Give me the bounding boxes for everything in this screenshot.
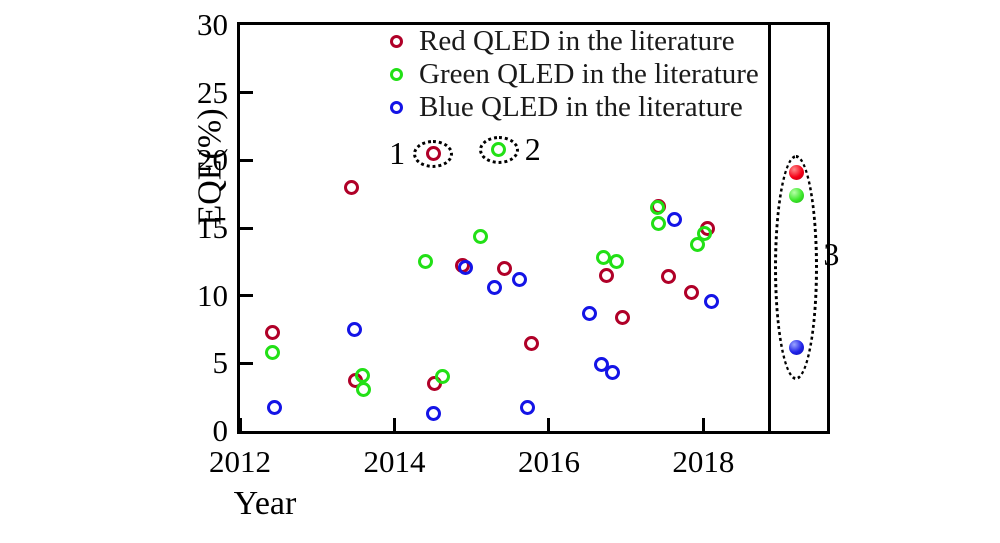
x-tick-label-2018: 2018 [658,446,748,477]
data-point [347,322,362,337]
data-point [605,365,620,380]
x-tick-2018 [702,418,705,431]
data-point [418,254,433,269]
y-tick-15 [240,227,253,230]
legend-item-1[interactable]: Green QLED in the literature [390,58,759,91]
data-point [609,254,624,269]
legend-label: Red QLED in the literature [419,27,735,56]
y-tick-10 [240,294,253,297]
data-point [650,200,665,215]
x-axis-title: Year [0,485,1000,523]
y-tick-label-30: 30 [197,9,228,40]
legend-label: Green QLED in the literature [419,60,759,89]
legend-swatch-icon [390,35,403,48]
data-point [582,306,597,321]
legend-item-0[interactable]: Red QLED in the literature [390,25,759,58]
x-tick-label-2014: 2014 [349,446,439,477]
data-point [458,260,473,275]
y-tick-label-10: 10 [197,280,228,311]
annotation-label-3: 3 [823,238,839,270]
data-point [697,226,712,241]
y-tick-20 [240,159,253,162]
y-tick-label-25: 25 [197,77,228,108]
x-tick-2014 [393,418,396,431]
data-point [265,345,280,360]
y-tick-label-0: 0 [213,415,229,446]
data-point [599,268,614,283]
data-point [596,250,611,265]
data-point [615,310,630,325]
legend-item-2[interactable]: Blue QLED in the literature [390,91,759,124]
data-point [267,400,282,415]
data-point [473,229,488,244]
data-point [426,406,441,421]
annotation-ellipse-2 [479,136,519,164]
data-point [344,180,359,195]
data-point [520,400,535,415]
chart-root: EQE(%) 051015202530 2012201420162018 123… [0,0,1000,543]
data-point [524,336,539,351]
legend: Red QLED in the literatureGreen QLED in … [390,25,759,124]
data-point [512,272,527,287]
legend-label: Blue QLED in the literature [419,93,743,122]
data-point [651,216,666,231]
x-axis-title-text: Year [234,485,297,522]
y-tick-label-5: 5 [213,347,229,378]
data-point [265,325,280,340]
x-tick-label-2012: 2012 [195,446,285,477]
panel-divider [768,25,771,431]
data-point [684,285,699,300]
x-tick-2012 [239,418,242,431]
annotation-label-2: 2 [525,133,541,165]
data-point [497,261,512,276]
y-tick-label-15: 15 [197,212,228,243]
annotation-ellipse-3 [774,155,818,380]
y-tick-label-20: 20 [197,144,228,175]
data-point [661,269,676,284]
data-point [356,382,371,397]
annotation-label-1: 1 [389,137,405,169]
annotation-ellipse-1 [413,140,453,168]
x-tick-label-2016: 2016 [504,446,594,477]
y-tick-25 [240,91,253,94]
data-point [704,294,719,309]
legend-swatch-icon [390,68,403,81]
data-point [667,212,682,227]
data-point [435,369,450,384]
legend-swatch-icon [390,101,403,114]
data-point [355,368,370,383]
data-point [487,280,502,295]
y-tick-5 [240,362,253,365]
x-tick-2016 [547,418,550,431]
